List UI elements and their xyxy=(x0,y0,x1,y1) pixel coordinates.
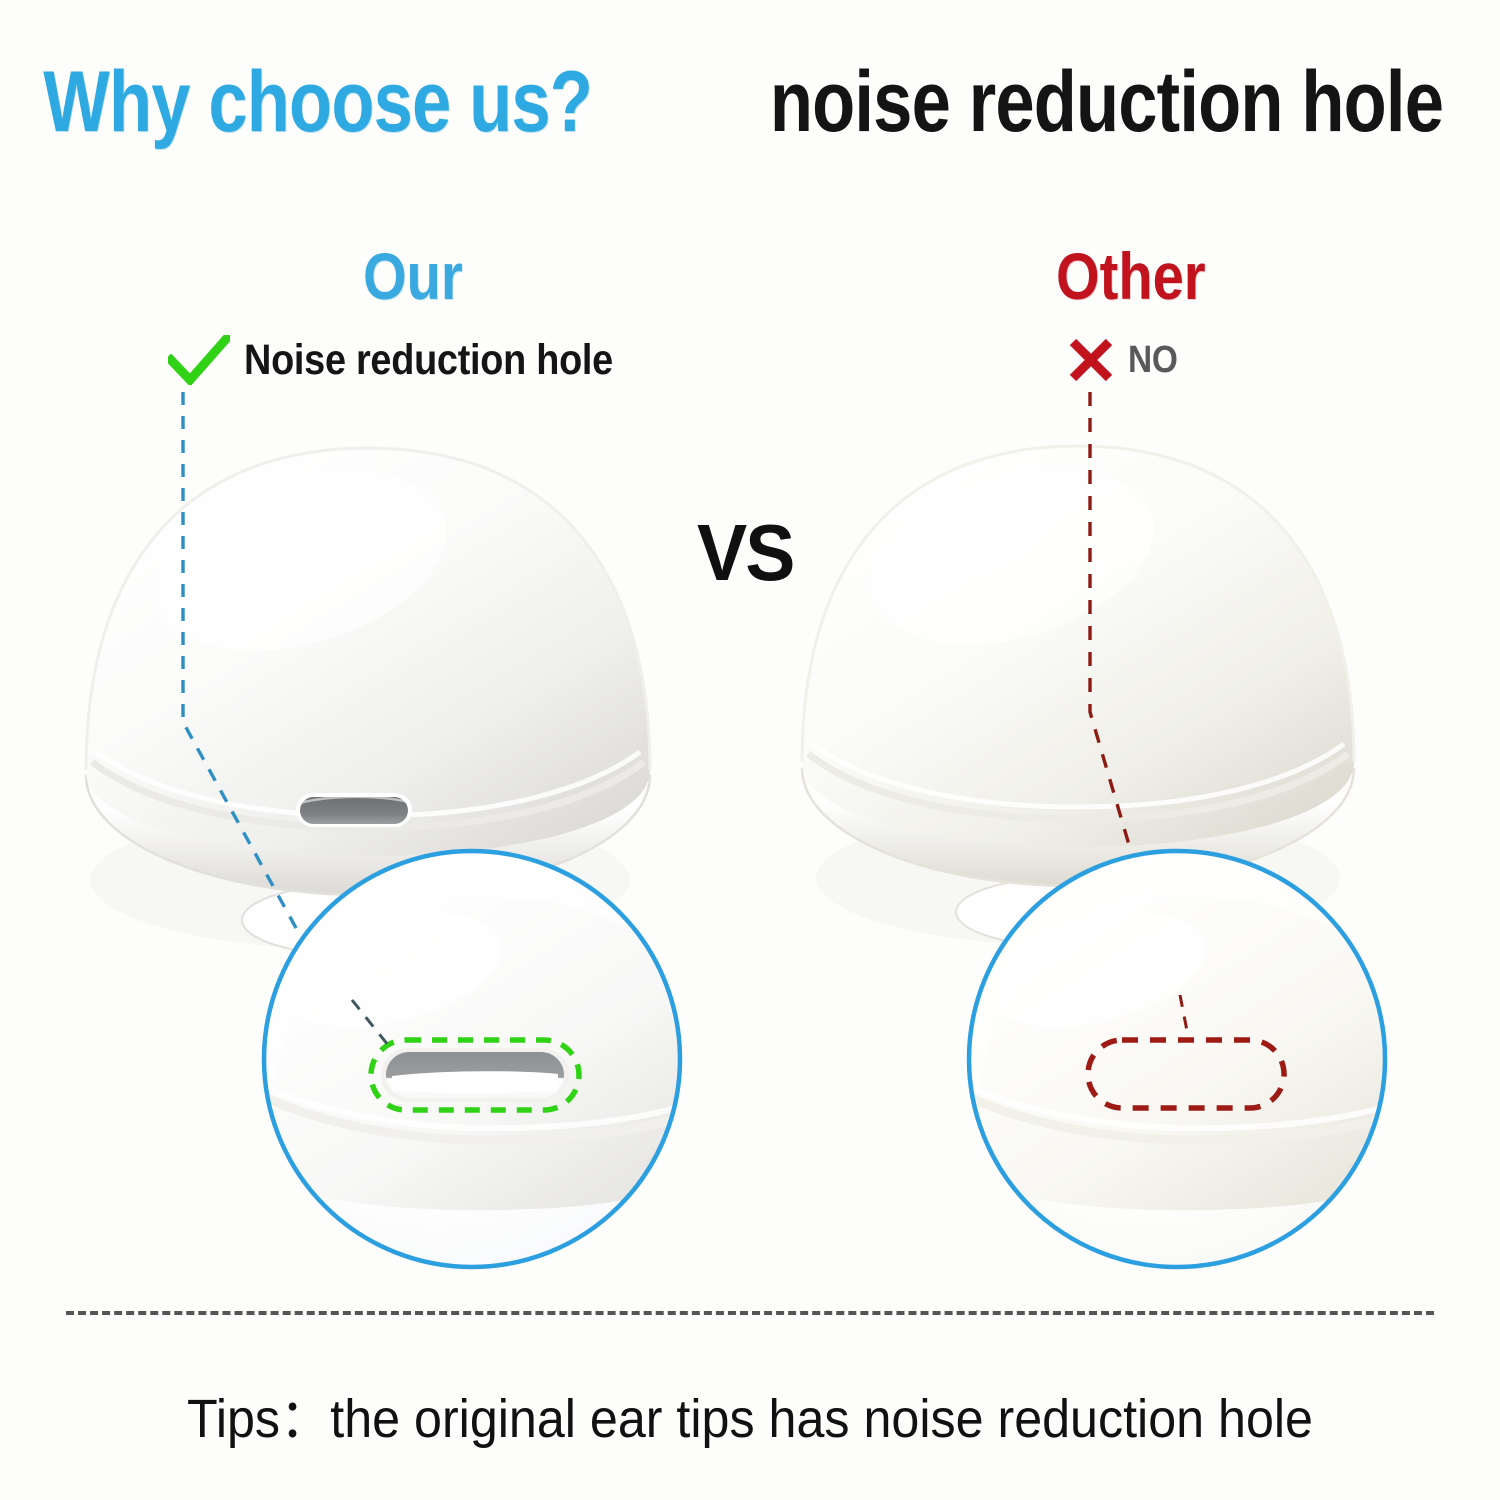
our-magnifier xyxy=(262,851,740,1267)
our-magnifier-ring xyxy=(264,851,680,1267)
vs-label: VS xyxy=(697,513,794,593)
header-topic: noise reduction hole xyxy=(770,59,1443,145)
other-callout-leader-line xyxy=(1090,392,1184,1032)
section-divider xyxy=(66,1311,1434,1315)
check-icon xyxy=(168,335,230,385)
header-banner: Why choose us? noise reduction hole xyxy=(0,52,1500,152)
tips-note: Tips：the original ear tips has noise red… xyxy=(53,1388,1448,1450)
noise-reduction-hole-zoomed xyxy=(381,1048,569,1102)
noise-reduction-hole-small xyxy=(296,793,412,827)
other-feature-label: NO xyxy=(1128,337,1178,383)
our-callout-leader-line xyxy=(183,392,352,1030)
cross-icon xyxy=(1068,337,1114,383)
other-magnifier xyxy=(967,851,1445,1267)
our-eartip-illustration xyxy=(86,438,650,956)
other-eartip-illustration xyxy=(802,437,1354,947)
infographic-canvas: Why choose us? noise reduction hole Our … xyxy=(0,0,1500,1500)
other-feature-row: NO xyxy=(1068,337,1184,383)
our-column-heading: Our xyxy=(363,243,463,309)
our-feature-label: Noise reduction hole xyxy=(244,337,613,383)
other-magnifier-ring xyxy=(969,851,1385,1267)
our-hole-highlight xyxy=(371,1040,579,1110)
header-question: Why choose us? xyxy=(43,59,592,145)
other-column-heading: Other xyxy=(1056,243,1206,309)
other-missing-hole-highlight xyxy=(1088,1040,1284,1108)
our-feature-row: Noise reduction hole xyxy=(168,335,663,385)
product-illustration xyxy=(0,0,1500,1500)
